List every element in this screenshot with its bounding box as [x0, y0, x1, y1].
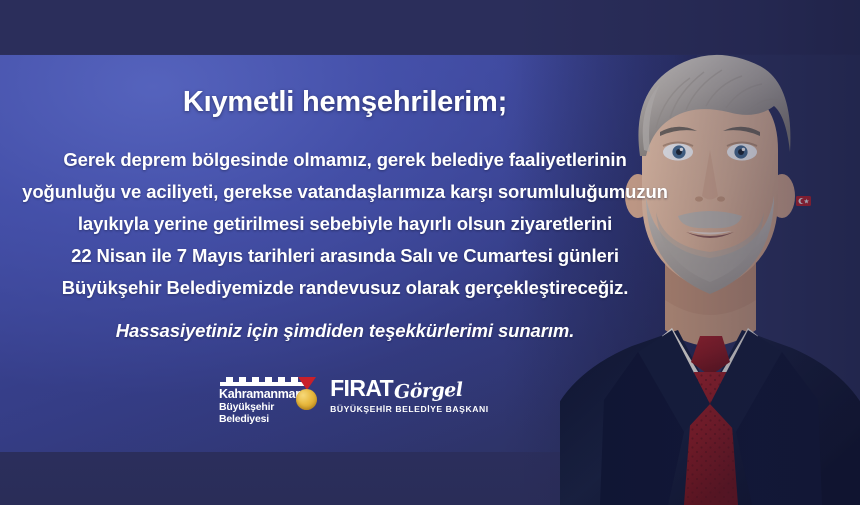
message-content: Kıymetli hemşehrilerim; Gerek deprem böl…	[0, 0, 690, 505]
message-body: Gerek deprem bölgesinde olmamız, gerek b…	[0, 144, 690, 304]
mayor-title: BÜYÜKŞEHİR BELEDİYE BAŞKANI	[330, 404, 489, 415]
message-line: yoğunluğu ve aciliyeti, gerekse vatandaş…	[0, 176, 690, 208]
mayor-name-row: FIRAT Görgel	[330, 376, 489, 402]
message-line: Gerek deprem bölgesinde olmamız, gerek b…	[0, 144, 690, 176]
medal-icon	[295, 377, 319, 417]
message-line: Büyükşehir Belediyemizde randevusuz olar…	[0, 272, 690, 304]
castle-battlement-icon	[220, 376, 306, 387]
logo-lockup: Kahramanmaraş Büyükşehir Belediyesi FIRA…	[219, 374, 481, 420]
municipality-logo: Kahramanmaraş Büyükşehir Belediyesi	[219, 374, 313, 425]
announcement-graphic: Kıymetli hemşehrilerim; Gerek deprem böl…	[0, 0, 860, 505]
mayor-last-name: Görgel	[394, 379, 463, 403]
message-line: layıkıyla yerine getirilmesi sebebiyle h…	[0, 208, 690, 240]
medal-coin-icon	[296, 389, 317, 410]
page-title: Kıymetli hemşehrilerim;	[0, 86, 690, 119]
message-line: 22 Nisan ile 7 Mayıs tarihleri arasında …	[0, 240, 690, 272]
closing-statement: Hassasiyetiniz için şimdiden teşekkürler…	[0, 320, 690, 342]
mayor-signature-logo: FIRAT Görgel BÜYÜKŞEHİR BELEDİYE BAŞKANI	[330, 374, 489, 415]
mayor-first-name: FIRAT	[330, 376, 393, 400]
